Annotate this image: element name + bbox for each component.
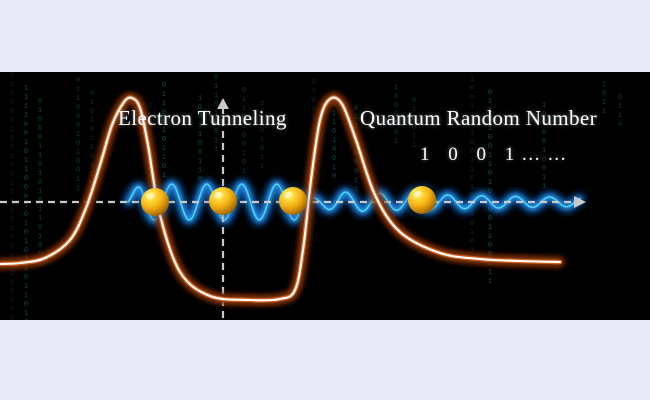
electron-sphere xyxy=(133,180,177,224)
label-bitstream: 1 0 0 1…… xyxy=(420,144,573,166)
electron-sphere xyxy=(201,179,245,223)
electron-sphere xyxy=(400,178,444,222)
electron-sphere-body xyxy=(209,187,237,215)
label-electron-tunneling: Electron Tunneling xyxy=(118,106,287,131)
electron-sphere-body xyxy=(141,188,169,216)
electron-sphere-body xyxy=(408,186,436,214)
electron-sphere-body xyxy=(279,187,307,215)
electron-sphere xyxy=(271,179,315,223)
figure-panel: 0110001111001011110011111000000111100101… xyxy=(0,72,650,320)
figure-root: 0110001111001011110011111000000111100101… xyxy=(0,0,650,400)
label-quantum-random-number: Quantum Random Number xyxy=(360,106,597,131)
